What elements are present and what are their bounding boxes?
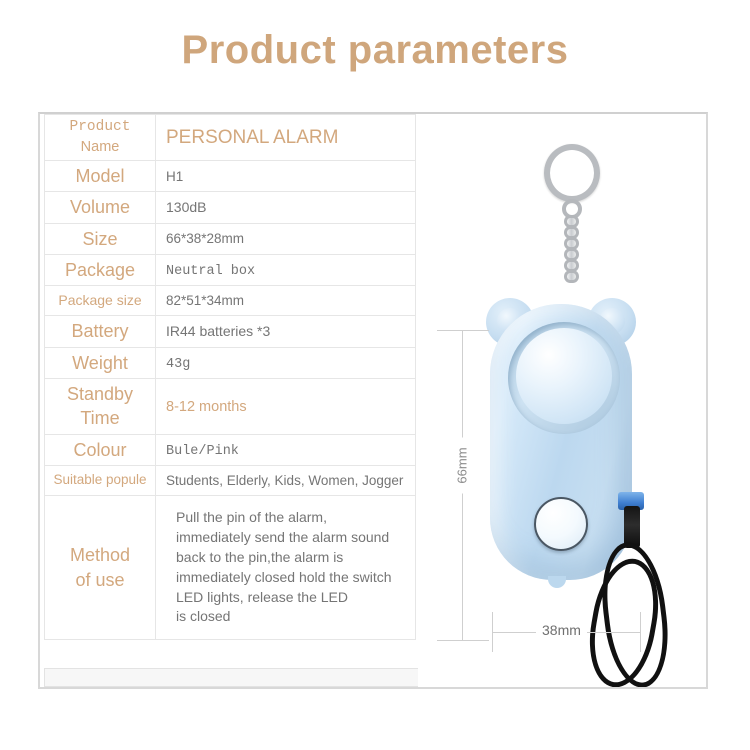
spec-value-package: Neutral box [156, 255, 416, 286]
spec-value-package-size: 82*51*34mm [156, 286, 416, 316]
dimension-height-label: 66mm [452, 438, 473, 494]
spec-label-line-2: of use [47, 568, 153, 592]
alarm-push-button [534, 497, 588, 551]
spec-label-size: Size [45, 223, 156, 254]
spec-value-size: 66*38*28mm [156, 223, 416, 254]
table-row: Colour Bule/Pink [45, 434, 416, 465]
spec-label-suitable-popule: Suitable popule [45, 465, 156, 495]
table-row: Suitable popule Students, Elderly, Kids,… [45, 465, 416, 495]
spec-value-suitable-popule: Students, Elderly, Kids, Women, Jogger [156, 465, 416, 495]
spec-value-method-of-use: Pull the pin of the alarm, immediately s… [156, 496, 416, 640]
spec-label-standby-time: Standby Time [45, 379, 156, 435]
table-row: Battery IR44 batteries *3 [45, 316, 416, 347]
keychain-icon [564, 215, 579, 293]
lanyard-strap [590, 542, 680, 687]
table-row: Model H1 [45, 161, 416, 192]
table-row: Standby Time 8-12 months [45, 379, 416, 435]
dimension-height-cap-bottom [437, 640, 489, 641]
spec-label-volume: Volume [45, 192, 156, 223]
spec-value-standby-time: 8-12 months [156, 379, 416, 435]
spec-label-weight: Weight [45, 347, 156, 378]
table-row: Package size 82*51*34mm [45, 286, 416, 316]
speaker-lens [516, 328, 612, 424]
spec-label-battery: Battery [45, 316, 156, 347]
dimension-height-cap-top [437, 330, 489, 331]
specification-table: Product Name PERSONAL ALARM Model H1 Vol… [44, 114, 416, 640]
table-row: Volume 130dB [45, 192, 416, 223]
spec-label-line-1: Method [47, 543, 153, 567]
spec-label-line-2: Name [47, 138, 153, 158]
spec-label-model: Model [45, 161, 156, 192]
keyring-icon [544, 144, 600, 202]
spec-label-package: Package [45, 255, 156, 286]
spec-label-package-size: Package size [45, 286, 156, 316]
spec-value-battery: IR44 batteries *3 [156, 316, 416, 347]
product-parameters-page: Product parameters Product Name PERSONAL… [0, 0, 750, 750]
spec-label-colour: Colour [45, 434, 156, 465]
dimension-width-cap-right [640, 612, 641, 652]
table-row: Package Neutral box [45, 255, 416, 286]
spec-value-model: H1 [156, 161, 416, 192]
table-row: Weight 43g [45, 347, 416, 378]
spec-value-volume: 130dB [156, 192, 416, 223]
table-row: Method of use Pull the pin of the alarm,… [45, 496, 416, 640]
page-title: Product parameters [0, 28, 750, 73]
spec-label-product-name: Product Name [45, 115, 156, 161]
table-row: Product Name PERSONAL ALARM [45, 115, 416, 161]
spec-label-line-2: Time [47, 406, 153, 430]
spec-value-product-name: PERSONAL ALARM [156, 115, 416, 161]
spec-label-method-of-use: Method of use [45, 496, 156, 640]
spec-value-weight: 43g [156, 347, 416, 378]
dimension-width-label: 38mm [536, 622, 587, 638]
table-row: Size 66*38*28mm [45, 223, 416, 254]
spec-label-line-1: Standby [47, 382, 153, 406]
spec-value-colour: Bule/Pink [156, 434, 416, 465]
spec-label-line-1: Product [47, 118, 153, 138]
